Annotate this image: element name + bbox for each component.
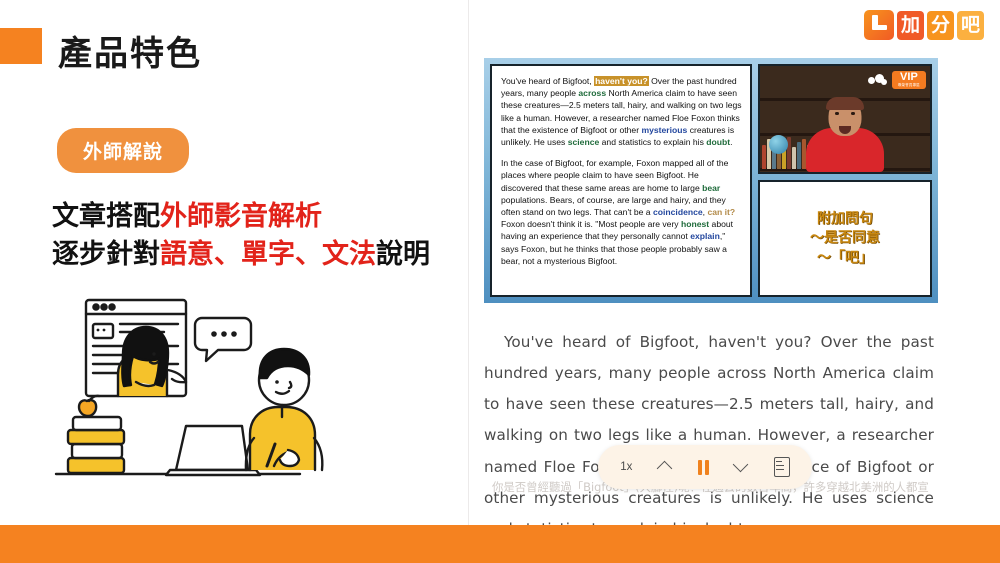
copy-l1-black: 文章搭配: [52, 201, 160, 232]
p2-highlight-coincidence: coincidence: [653, 207, 703, 217]
title-accent-square: [0, 28, 42, 64]
sparkle-icon: [866, 72, 890, 88]
p1-highlight-science: science: [568, 137, 600, 147]
copy-line-2: 逐步針對語意、單字、文法說明: [52, 236, 472, 274]
article-screenshot-pane: You've heard of Bigfoot, haven't you? Ov…: [490, 64, 752, 297]
vip-text: VIP: [900, 71, 918, 83]
p1-highlight-tag-question: haven't you?: [594, 76, 649, 86]
grammar-note-box: 附加問句 ～是否同意 ～「吧」: [758, 180, 932, 297]
bottom-accent-bar: [0, 525, 1000, 563]
vip-badge: VIP尊榮會員專區: [866, 71, 926, 89]
p1-highlight-across: across: [578, 88, 606, 98]
teacher-cap: [826, 97, 864, 110]
copy-line-1: 文章搭配外師影音解析: [52, 198, 472, 236]
note-line-3: ～「吧」: [817, 250, 873, 266]
p2-highlight-honest: honest: [681, 219, 709, 229]
script-icon[interactable]: [774, 457, 790, 477]
illustration-svg: [44, 292, 364, 488]
vip-label: VIP尊榮會員專區: [892, 71, 926, 89]
copy-l1-red: 外師影音解析: [160, 201, 322, 232]
copy-l2-red: 語意、單字、文法: [160, 239, 376, 270]
slide-root: 加 分 吧 產品特色 外師解說 文章搭配外師影音解析 逐步針對語意、單字、文法說…: [0, 0, 1000, 563]
playback-speed-button[interactable]: 1x: [620, 461, 632, 473]
note-line-1: 附加問句: [817, 211, 873, 227]
p1-seg1: You've heard of Bigfoot,: [501, 76, 594, 86]
teacher-video-thumbnail[interactable]: VIP尊榮會員專區: [758, 64, 932, 174]
copy-l2-black-b: 說明: [376, 239, 430, 270]
online-learning-illustration: [44, 292, 364, 488]
brand-logo: 加 分 吧: [864, 10, 984, 40]
article-paragraph-1: You've heard of Bigfoot, haven't you? Ov…: [501, 75, 742, 148]
video-frame-inner: You've heard of Bigfoot, haven't you? Ov…: [490, 64, 932, 297]
feature-copy: 文章搭配外師影音解析 逐步針對語意、單字、文法說明: [52, 198, 472, 275]
vip-subtext: 尊榮會員專區: [898, 84, 920, 88]
logo-char-1: 加: [897, 11, 924, 40]
logo-char-2: 分: [927, 11, 954, 40]
page-title: 產品特色: [58, 26, 202, 75]
paragraph-text: You've heard of Bigfoot, haven't you? Ov…: [484, 333, 934, 538]
article-paragraph-2: In the case of Bigfoot, for example, Fox…: [501, 157, 742, 267]
p1-highlight-mysterious: mysterious: [641, 125, 687, 135]
p1-seg5: and statistics to explain his: [599, 137, 706, 147]
pause-button-icon[interactable]: [698, 460, 709, 475]
p2-highlight-can-it: can it?: [707, 207, 735, 217]
p2-seg4: Foxon doesn't think it is. "Most people …: [501, 219, 681, 229]
audio-player-controls[interactable]: 1x: [598, 445, 812, 489]
globe-decor: [769, 135, 788, 154]
reading-paragraph: You've heard of Bigfoot, haven't you? Ov…: [484, 327, 934, 545]
p2-seg1: In the case of Bigfoot, for example, Fox…: [501, 158, 728, 192]
lesson-video-frame: You've heard of Bigfoot, haven't you? Ov…: [484, 58, 938, 303]
next-sentence-icon[interactable]: [733, 459, 749, 475]
p1-highlight-doubt: doubt: [706, 137, 730, 147]
p1-seg6: .: [730, 137, 732, 147]
teacher-figure: [802, 100, 888, 172]
video-right-column: VIP尊榮會員專區 附加問句 ～是否同意 ～「吧」: [758, 64, 932, 297]
p2-highlight-bear: bear: [702, 183, 720, 193]
copy-l2-black-a: 逐步針對: [52, 239, 160, 270]
previous-sentence-icon[interactable]: [657, 459, 673, 475]
feature-badge: 外師解說: [57, 128, 189, 173]
p2-highlight-explain: explain: [690, 231, 720, 241]
note-line-2: ～是否同意: [810, 230, 880, 246]
logo-char-3: 吧: [957, 11, 984, 40]
column-divider: [468, 0, 469, 563]
logo-mark-icon: [864, 10, 894, 40]
